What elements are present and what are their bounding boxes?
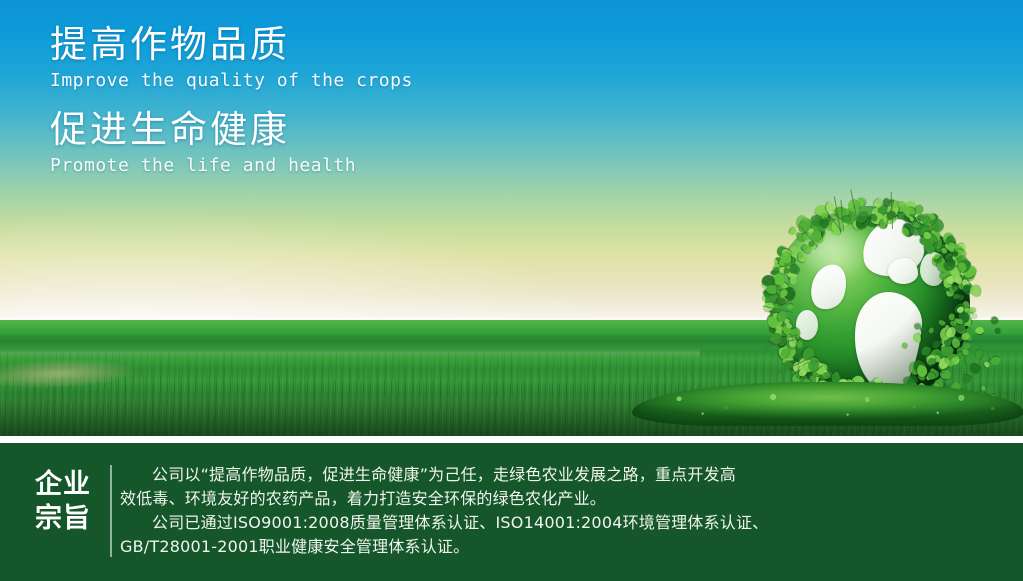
- mission-badge-line1: 企业: [22, 468, 104, 502]
- headline-line1-en: Improve the quality of the crops: [50, 69, 610, 93]
- headline-line2-cn: 促进生命健康: [50, 107, 610, 153]
- mission-badge: 企业 宗旨: [22, 468, 104, 536]
- leaf: [969, 285, 981, 299]
- leaf: [920, 326, 926, 332]
- leaf: [991, 356, 1002, 366]
- leaf: [994, 327, 999, 334]
- leaf: [901, 342, 908, 349]
- mission-paragraph-3: 公司已通过ISO9001:2008质量管理体系认证、ISO14001:2004环…: [120, 511, 1000, 535]
- leaf: [991, 316, 999, 326]
- leaf: [968, 362, 982, 375]
- leaf-vine-overlay: [752, 196, 988, 411]
- leaf: [796, 340, 804, 349]
- leaf: [983, 361, 990, 369]
- badge-divider-rule: [110, 465, 112, 557]
- leaf: [968, 306, 975, 312]
- moss-ground: [632, 382, 1023, 426]
- mission-text: 公司以“提高作物品质，促进生命健康”为己任，走绿色农业发展之路，重点开发高 效低…: [120, 463, 1000, 559]
- mission-paragraph-1: 公司以“提高作物品质，促进生命健康”为己任，走绿色农业发展之路，重点开发高: [120, 463, 1000, 487]
- corporate-banner: 提高作物品质 Improve the quality of the crops …: [0, 0, 1023, 581]
- globe-scene: [718, 196, 1023, 437]
- headline-block: 提高作物品质 Improve the quality of the crops …: [50, 22, 610, 178]
- headline-spacer: [50, 93, 610, 107]
- mission-paragraph-2: 效低毒、环境友好的农药产品，着力打造安全环保的绿色农化产业。: [120, 487, 1000, 511]
- mission-paragraph-4: GB/T28001-2001职业健康安全管理体系认证。: [120, 535, 1000, 559]
- panel-top-divider: [0, 436, 1023, 443]
- leaf: [912, 332, 923, 344]
- mission-badge-line2: 宗旨: [22, 502, 104, 536]
- mission-panel: 企业 宗旨 公司以“提高作物品质，促进生命健康”为己任，走绿色农业发展之路，重点…: [0, 443, 1023, 581]
- leaf: [972, 312, 979, 319]
- leaf: [972, 349, 983, 361]
- leaf: [975, 327, 984, 334]
- dry-grass-patch: [0, 353, 161, 393]
- headline-line1-cn: 提高作物品质: [50, 22, 610, 68]
- moss-texture: [632, 382, 1023, 426]
- leaf: [789, 276, 796, 284]
- leaf: [927, 327, 934, 335]
- leaf: [787, 304, 793, 309]
- headline-line2-en: Promote the life and health: [50, 154, 610, 178]
